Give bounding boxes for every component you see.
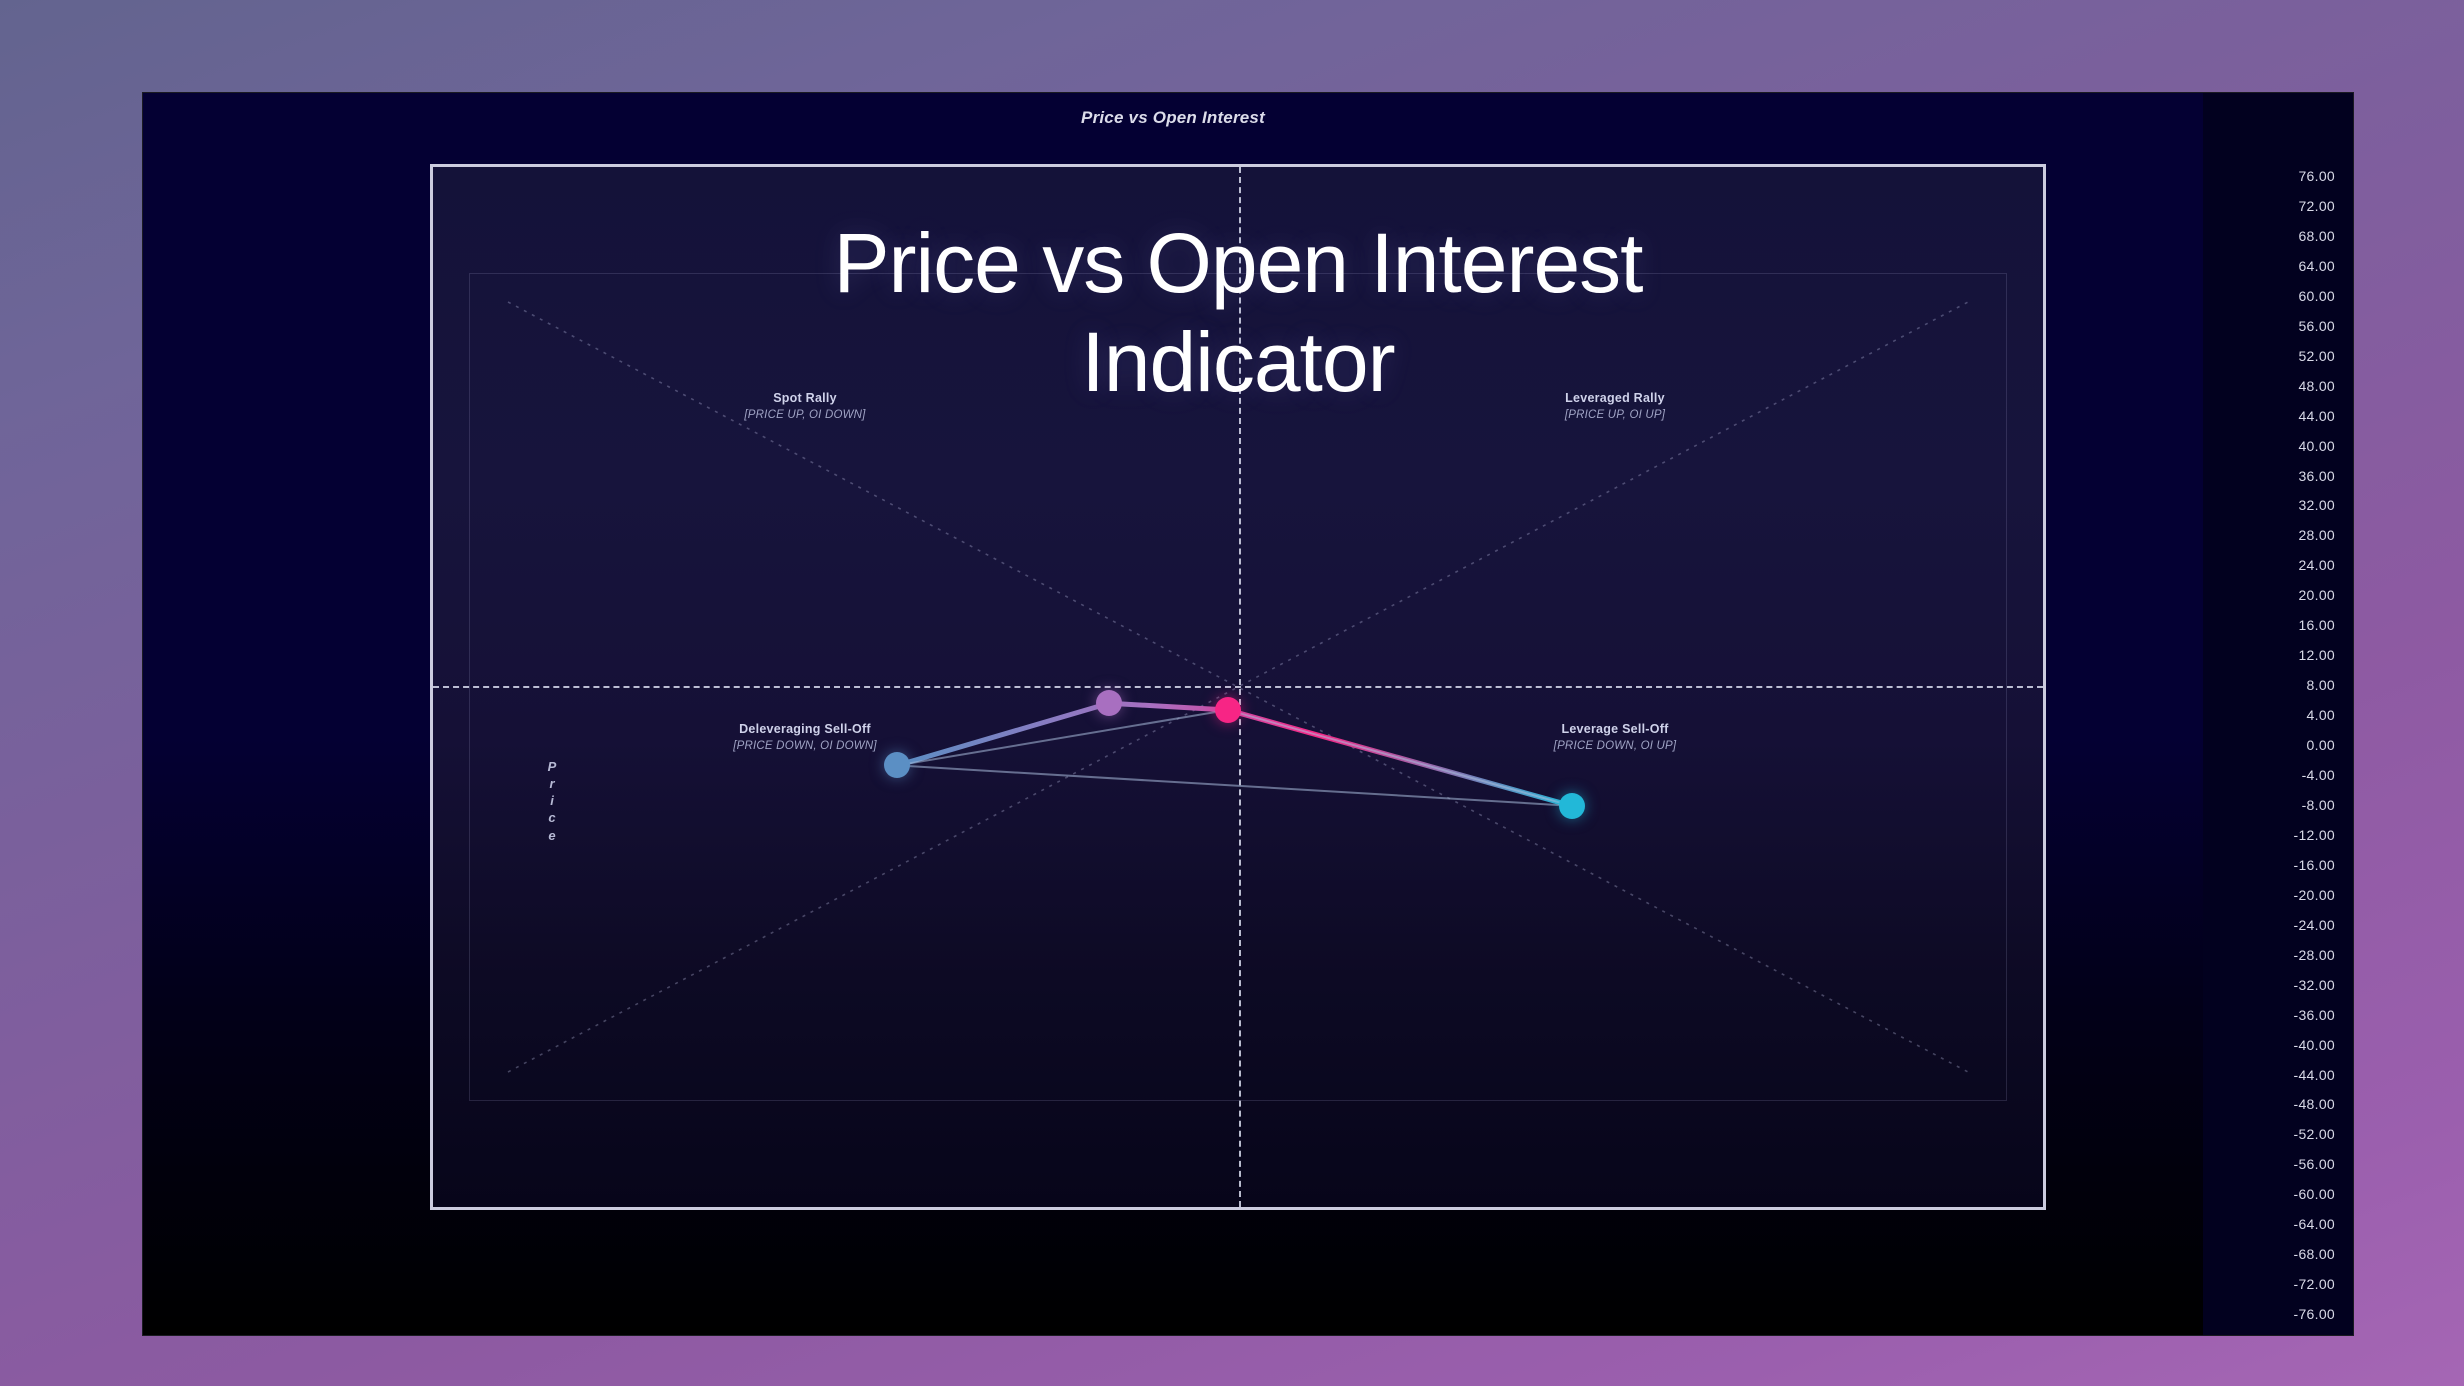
chart-window: Price vs Open Interest Spot Rally [PRICE… (143, 93, 2353, 1335)
quadrant-subtitle: [PRICE DOWN, OI UP] (1455, 738, 1775, 755)
page-title: Price vs Open Interest Indicator (433, 214, 2043, 412)
plot-area: Spot Rally [PRICE UP, OI DOWN] Leveraged… (433, 167, 2043, 1207)
axis-tick-label: 28.00 (2298, 527, 2335, 543)
axis-tick-label: -32.00 (2294, 977, 2336, 993)
axis-tick-label: -8.00 (2302, 797, 2335, 813)
quadrant-title: Deleveraging Sell-Off (645, 720, 965, 738)
axis-tick-label: 72.00 (2298, 198, 2335, 214)
axis-tick-label: -40.00 (2294, 1037, 2336, 1053)
quadrant-title: Leveraged Rally (1455, 389, 1775, 407)
axis-tick-label: 20.00 (2298, 587, 2335, 603)
chart-header-title: Price vs Open Interest (143, 93, 2203, 143)
axis-tick-label: -68.00 (2294, 1246, 2336, 1262)
axis-tick-label: 4.00 (2307, 707, 2335, 723)
axis-tick-label: 12.00 (2298, 647, 2335, 663)
y-axis-label-letter: c (548, 809, 555, 826)
axis-tick-label: -44.00 (2294, 1067, 2336, 1083)
axis-tick-label: -60.00 (2294, 1186, 2336, 1202)
axis-tick-label: -72.00 (2294, 1276, 2336, 1292)
quadrant-label-spot-rally: Spot Rally [PRICE UP, OI DOWN] (645, 389, 965, 424)
axis-tick-label: -64.00 (2294, 1216, 2336, 1232)
axis-tick-label: 56.00 (2298, 318, 2335, 334)
axis-tick-label: -48.00 (2294, 1096, 2336, 1112)
quadrant-subtitle: [PRICE DOWN, OI DOWN] (645, 738, 965, 755)
axis-tick-label: 44.00 (2298, 408, 2335, 424)
data-point[interactable] (1559, 793, 1585, 819)
axis-tick-label: 52.00 (2298, 348, 2335, 364)
page-title-line1: Price vs Open Interest (433, 214, 2043, 313)
axis-tick-label: 36.00 (2298, 468, 2335, 484)
axis-tick-label: 64.00 (2298, 258, 2335, 274)
axis-tick-label: -16.00 (2294, 857, 2336, 873)
axis-tick-label: 40.00 (2298, 438, 2335, 454)
axis-tick-label: -52.00 (2294, 1126, 2336, 1142)
axis-tick-label: -20.00 (2294, 887, 2336, 903)
y-axis-label-letter: r (549, 775, 554, 792)
axis-vertical-zero (1239, 167, 1241, 1207)
axis-tick-label: -28.00 (2294, 947, 2336, 963)
quadrant-label-deleveraging-sell-off: Deleveraging Sell-Off [PRICE DOWN, OI DO… (645, 720, 965, 755)
axis-horizontal-zero (433, 686, 2043, 688)
axis-tick-label: -4.00 (2302, 767, 2335, 783)
axis-tick-label: -76.00 (2294, 1306, 2336, 1322)
data-point[interactable] (884, 752, 910, 778)
axis-tick-label: 76.00 (2298, 168, 2335, 184)
axis-tick-label: 0.00 (2307, 737, 2335, 753)
quadrant-label-leveraged-rally: Leveraged Rally [PRICE UP, OI UP] (1455, 389, 1775, 424)
plot-frame: Spot Rally [PRICE UP, OI DOWN] Leveraged… (430, 164, 2046, 1210)
axis-tick-label: 32.00 (2298, 497, 2335, 513)
data-point[interactable] (1215, 697, 1241, 723)
axis-tick-label: 24.00 (2298, 557, 2335, 573)
quadrant-title: Spot Rally (645, 389, 965, 407)
axis-tick-label: -24.00 (2294, 917, 2336, 933)
chart-canvas: Price vs Open Interest Spot Rally [PRICE… (143, 93, 2203, 1335)
y-axis-label-letter: e (548, 827, 555, 844)
axis-tick-label: 60.00 (2298, 288, 2335, 304)
y-axis-label: Price (541, 758, 563, 844)
axis-tick-label: 8.00 (2307, 677, 2335, 693)
axis-tick-label: -12.00 (2294, 827, 2336, 843)
quadrant-title: Leverage Sell-Off (1455, 720, 1775, 738)
quadrant-label-leverage-sell-off: Leverage Sell-Off [PRICE DOWN, OI UP] (1455, 720, 1775, 755)
y-axis-label-letter: P (548, 758, 557, 775)
value-axis[interactable]: 76.0072.0068.0064.0060.0056.0052.0048.00… (2203, 93, 2353, 1335)
axis-tick-label: -56.00 (2294, 1156, 2336, 1172)
axis-tick-label: 48.00 (2298, 378, 2335, 394)
quadrant-subtitle: [PRICE UP, OI DOWN] (645, 407, 965, 424)
y-axis-label-letter: i (550, 792, 554, 809)
data-point[interactable] (1096, 690, 1122, 716)
axis-tick-label: -36.00 (2294, 1007, 2336, 1023)
axis-tick-label: 16.00 (2298, 617, 2335, 633)
axis-tick-label: 68.00 (2298, 228, 2335, 244)
quadrant-subtitle: [PRICE UP, OI UP] (1455, 407, 1775, 424)
